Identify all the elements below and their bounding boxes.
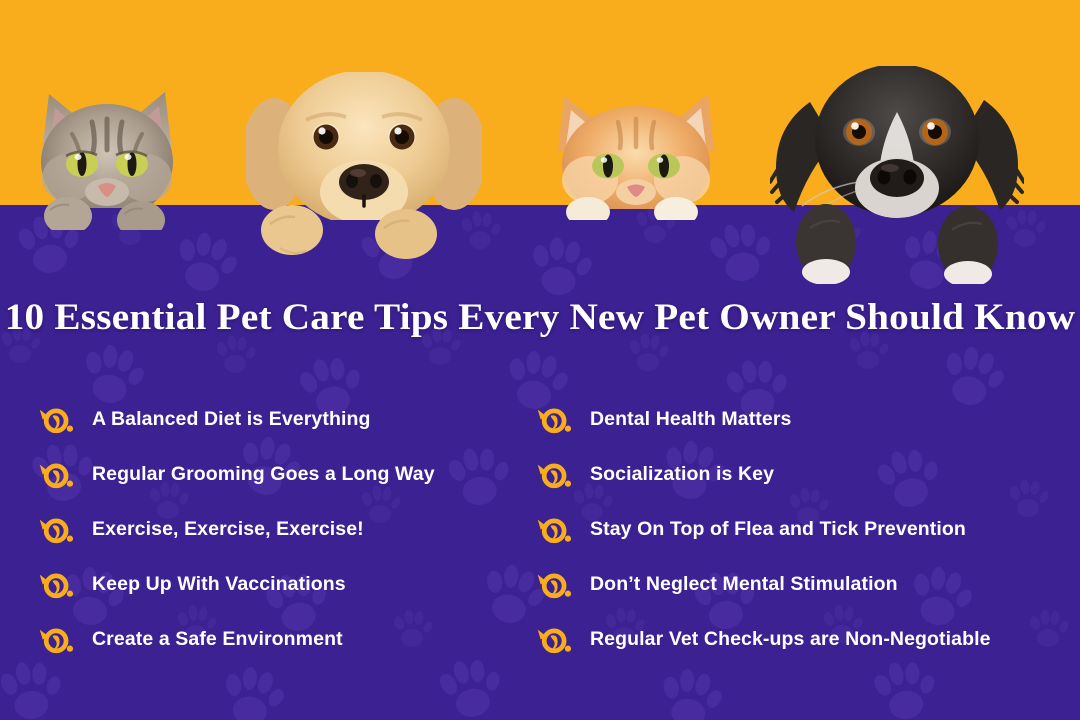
- tip-item-1[interactable]: A Balanced Diet is Everything: [38, 392, 528, 447]
- page-title: 10 Essential Pet Care Tips Every New Pet…: [0, 296, 1080, 339]
- pet-logo-bullet-icon: [38, 405, 76, 435]
- pet-logo-bullet-icon: [38, 625, 76, 655]
- tip-label: Regular Grooming Goes a Long Way: [92, 465, 435, 485]
- pet-logo-bullet-icon: [536, 460, 574, 490]
- tip-label: A Balanced Diet is Everything: [92, 410, 371, 430]
- tip-label: Dental Health Matters: [590, 410, 791, 430]
- tip-item-10[interactable]: Regular Vet Check-ups are Non-Negotiable: [528, 612, 1080, 667]
- tip-item-6[interactable]: Dental Health Matters: [528, 392, 1080, 447]
- tips-list: A Balanced Diet is Everything Dental Hea…: [0, 392, 1080, 667]
- tip-label: Create a Safe Environment: [92, 630, 343, 650]
- tip-item-9[interactable]: Don’t Neglect Mental Stimulation: [528, 557, 1080, 612]
- tip-label: Don’t Neglect Mental Stimulation: [590, 575, 898, 595]
- tip-label: Regular Vet Check-ups are Non-Negotiable: [590, 630, 991, 650]
- header-orange-band: [0, 0, 1080, 205]
- tip-label: Keep Up With Vaccinations: [92, 575, 346, 595]
- tip-label: Socialization is Key: [590, 465, 774, 485]
- tip-label: Stay On Top of Flea and Tick Prevention: [590, 520, 966, 540]
- tip-item-3[interactable]: Exercise, Exercise, Exercise!: [38, 502, 528, 557]
- pet-logo-bullet-icon: [38, 570, 76, 600]
- tip-item-2[interactable]: Regular Grooming Goes a Long Way: [38, 447, 528, 502]
- pet-logo-bullet-icon: [38, 515, 76, 545]
- tip-label: Exercise, Exercise, Exercise!: [92, 520, 364, 540]
- tip-item-4[interactable]: Keep Up With Vaccinations: [38, 557, 528, 612]
- pet-logo-bullet-icon: [536, 625, 574, 655]
- tip-item-5[interactable]: Create a Safe Environment: [38, 612, 528, 667]
- pet-care-infographic: 10 Essential Pet Care Tips Every New Pet…: [0, 0, 1080, 720]
- pet-logo-bullet-icon: [536, 515, 574, 545]
- tip-item-8[interactable]: Stay On Top of Flea and Tick Prevention: [528, 502, 1080, 557]
- pet-logo-bullet-icon: [38, 460, 76, 490]
- pet-logo-bullet-icon: [536, 570, 574, 600]
- tip-item-7[interactable]: Socialization is Key: [528, 447, 1080, 502]
- pet-logo-bullet-icon: [536, 405, 574, 435]
